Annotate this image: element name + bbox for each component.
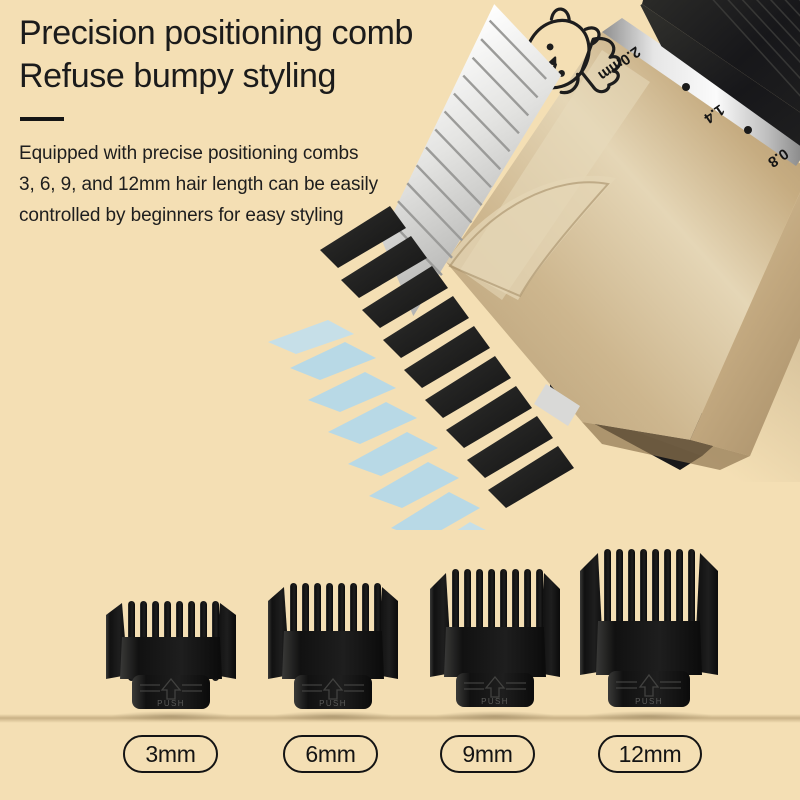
comb-attachments-row: PUSH: [0, 545, 800, 735]
push-label: PUSH: [635, 697, 663, 706]
push-label: PUSH: [319, 699, 347, 708]
comb-9mm[interactable]: PUSH: [424, 557, 566, 717]
size-pill-12mm[interactable]: 12mm: [598, 735, 702, 773]
size-pill-label: 12mm: [619, 741, 682, 768]
push-label: PUSH: [157, 699, 185, 708]
push-label: PUSH: [481, 697, 509, 706]
size-pill-label: 3mm: [145, 741, 195, 768]
hair-clipper-image: 2.0mm 1.4 0.8: [250, 0, 800, 530]
comb-6mm[interactable]: PUSH: [262, 565, 404, 717]
size-label-row: 3mm 6mm 9mm 12mm: [0, 735, 800, 781]
size-pill-9mm[interactable]: 9mm: [440, 735, 535, 773]
comb-12mm[interactable]: PUSH: [574, 545, 724, 717]
size-pill-3mm[interactable]: 3mm: [123, 735, 218, 773]
product-infographic: Precision positioning comb Refuse bumpy …: [0, 0, 800, 800]
size-pill-label: 9mm: [462, 741, 512, 768]
size-pill-6mm[interactable]: 6mm: [283, 735, 378, 773]
divider-rule: [20, 117, 64, 121]
comb-3mm[interactable]: PUSH: [100, 575, 242, 717]
size-pill-label: 6mm: [305, 741, 355, 768]
